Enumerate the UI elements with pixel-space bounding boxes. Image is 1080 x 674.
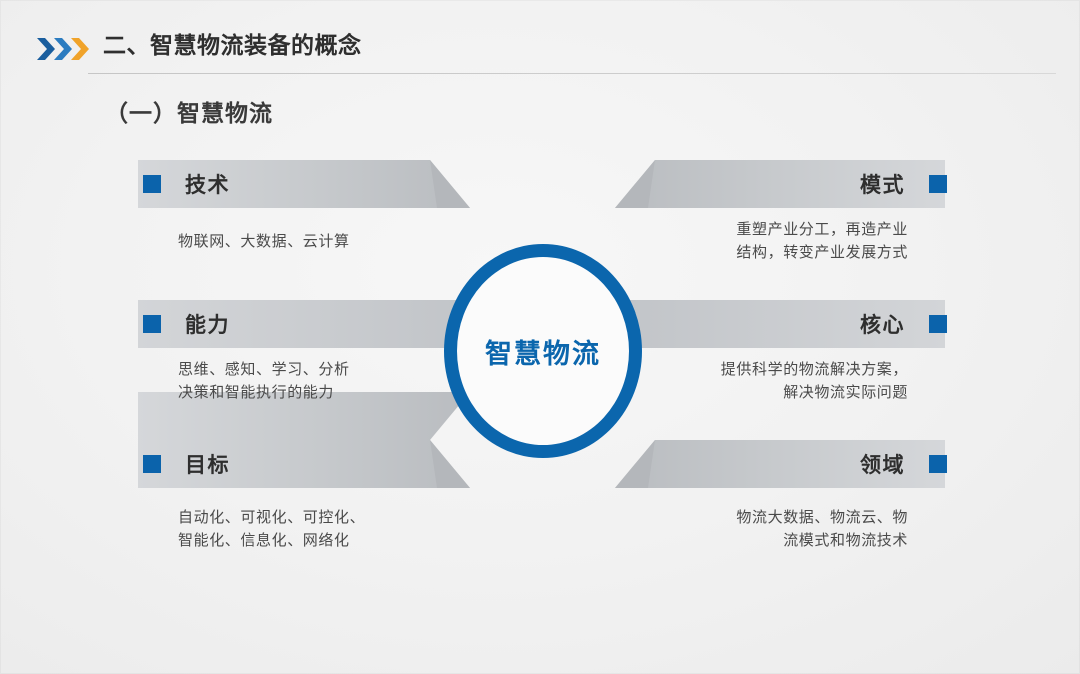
bar-shape-left-1 (138, 160, 470, 208)
bar-shape-left-3 (138, 392, 470, 488)
slide-header: 二、智慧物流装备的概念 （一）智慧物流 (0, 0, 1080, 84)
slide-canvas: 二、智慧物流装备的概念 （一）智慧物流 (0, 0, 1080, 674)
bar-shape-right-1 (615, 160, 945, 208)
bar-shape-right-3 (615, 440, 945, 488)
center-circle-label: 智慧物流 (485, 332, 601, 371)
concept-diagram: 智慧物流 技术 物联网、大数据、云计算 能力 思维、感知、学习、分析 决策和智能… (0, 140, 1080, 570)
center-circle: 智慧物流 (444, 244, 642, 458)
page-title: 二、智慧物流装备的概念 (103, 31, 362, 61)
title-divider (88, 73, 1056, 74)
triple-chevron-right-icon (36, 36, 94, 62)
section-subtitle: （一）智慧物流 (105, 98, 273, 130)
